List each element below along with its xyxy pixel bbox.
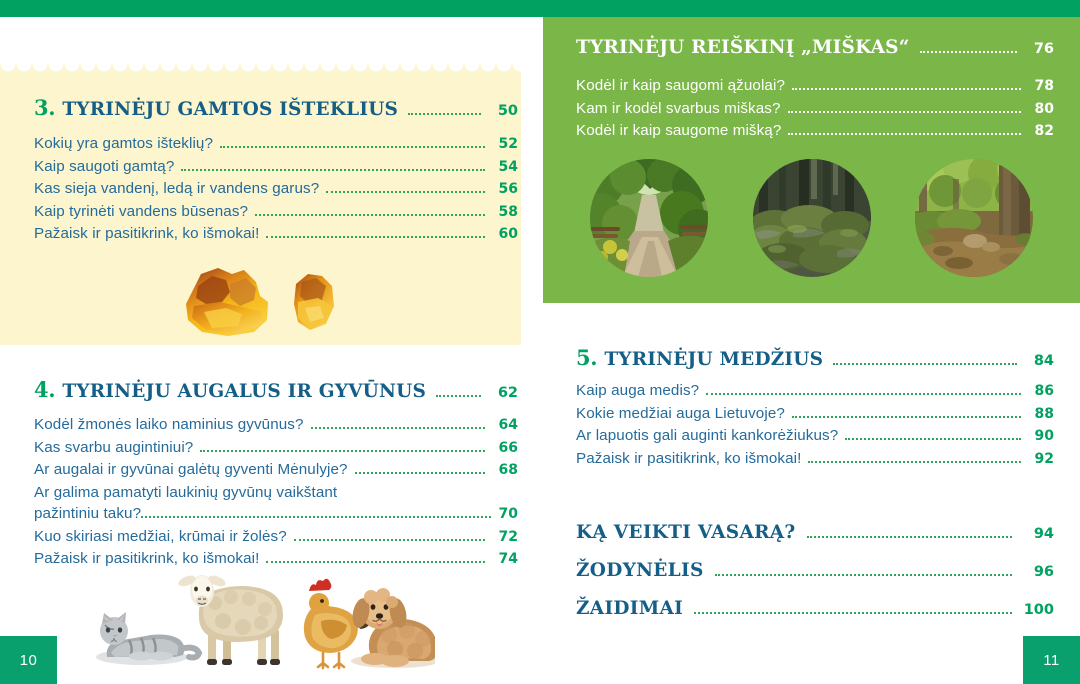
leader-dots [788,111,1021,113]
entry-label: Kaip saugoti gamtą? [34,156,174,178]
entry-label: Kas svarbu augintiniui? [34,437,193,459]
section-number: 3. [34,95,55,120]
cat-illustration [96,612,199,665]
entry-label: Kuo skiriasi medžiai, krūmai ir žolės? [34,526,287,548]
big-link-page-number: 96 [1022,564,1054,580]
section-title: TYRINĖJU AUGALUS IR GYVŪNUS [62,381,426,402]
amber-stones-image [168,262,358,340]
section-3-entries: Kokių yra gamtos išteklių? 52 Kaip saugo… [34,133,518,246]
leader-dots [706,393,1021,395]
leader-dots [792,88,1021,90]
toc-entry[interactable]: Kodėl ir kaip saugome mišką? 82 [576,120,1054,143]
leader-dots [920,51,1017,53]
toc-entry[interactable]: Kaip tyrinėti vandens būsenas? 58 [34,201,518,224]
toc-entry-wrapped-second-line[interactable]: pažintiniu taku? 70 [34,503,518,526]
forest-floor-photo [915,159,1033,277]
section-page-number: 62 [490,385,518,401]
page-number-left: 10 [0,636,57,684]
forest-photo-row [543,159,1080,281]
big-link-page-number: 100 [1022,602,1054,618]
leader-dots [833,363,1017,365]
leader-dots [694,612,1012,614]
big-link-label: ŽODYNĖLIS [576,560,704,581]
entry-label: Kodėl ir kaip saugome mišką? [576,120,781,142]
leader-dots [141,516,491,518]
big-link-row[interactable]: ŽAIDIMAI 100 [576,598,1054,619]
entry-label: Kam ir kodėl svarbus miškas? [576,98,781,120]
entry-label: Pažaisk ir pasitikrink, ko išmokai! [34,223,259,245]
section-heading-3[interactable]: 3. TYRINĖJU GAMTOS IŠTEKLIUS 50 [34,95,518,120]
toc-entry[interactable]: Pažaisk ir pasitikrink, ko išmokai! 60 [34,223,518,246]
leader-dots [355,472,485,474]
entry-page-number: 74 [492,549,518,571]
entry-label: Kas sieja vandenį, ledą ir vandens garus… [34,178,319,200]
entry-page-number: 60 [492,224,518,246]
table-of-contents-spread: 3. TYRINĖJU GAMTOS IŠTEKLIUS 50 Kokių yr… [0,0,1080,684]
green-section-entries: Kodėl ir kaip saugomi ąžuolai? 78 Kam ir… [576,75,1054,143]
entry-label: Kaip tyrinėti vandens būsenas? [34,201,248,223]
entry-page-number: 66 [492,438,518,460]
entry-label: Kokie medžiai auga Lietuvoje? [576,403,785,425]
entry-page-number: 56 [492,179,518,201]
green-section-heading[interactable]: TYRINĖJU REIŠKINĮ „MIŠKAS“ 76 [576,37,1054,58]
toc-entry[interactable]: Kuo skiriasi medžiai, krūmai ir žolės? 7… [34,526,518,549]
leader-dots [326,191,485,193]
entry-label: Pažaisk ir pasitikrink, ko išmokai! [34,548,259,570]
entry-page-number: 70 [492,504,518,526]
big-link-row[interactable]: KĄ VEIKTI VASARĄ? 94 [576,522,1054,543]
leader-dots [845,438,1021,440]
leader-dots [255,214,485,216]
section-heading-4[interactable]: 4. TYRINĖJU AUGALUS IR GYVŪNUS 62 [34,377,518,402]
leader-dots [436,395,481,397]
toc-entry[interactable]: Kam ir kodėl svarbus miškas? 80 [576,98,1054,121]
toc-entry[interactable]: Pažaisk ir pasitikrink, ko išmokai! 92 [576,448,1054,471]
toc-entry[interactable]: Kokie medžiai auga Lietuvoje? 88 [576,403,1054,426]
toc-entry[interactable]: Kokių yra gamtos išteklių? 52 [34,133,518,156]
section-5-entries: Kaip auga medis? 86 Kokie medžiai auga L… [576,380,1054,470]
folio-left-text: 10 [20,652,38,669]
big-link-label: ŽAIDIMAI [576,598,683,619]
leader-dots [266,236,485,238]
section-heading-5[interactable]: 5. TYRINĖJU MEDŽIUS 84 [576,345,1054,370]
toc-entry[interactable]: Pažaisk ir pasitikrink, ko išmokai! 74 [34,548,518,571]
leader-dots [808,461,1021,463]
leader-dots [181,169,485,171]
entry-page-number: 58 [492,202,518,224]
entry-page-number: 80 [1028,99,1054,121]
toc-entry[interactable]: Kodėl ir kaip saugomi ąžuolai? 78 [576,75,1054,98]
section-page-number: 50 [490,103,518,119]
toc-entry[interactable]: Ar lapuotis gali auginti kankorėžiukus? … [576,425,1054,448]
entry-page-number: 52 [492,134,518,156]
toc-entry[interactable]: Ar augalai ir gyvūnai galėtų gyventi Mėn… [34,459,518,482]
leader-dots [311,427,485,429]
forest-path-photo [590,159,708,277]
section-page-number: 84 [1026,353,1054,369]
big-link-row[interactable]: ŽODYNĖLIS 96 [576,560,1054,581]
entry-label: Ar galima pamatyti laukinių gyvūnų vaikš… [34,482,337,504]
section-page-number: 76 [1026,41,1054,57]
leader-dots [408,113,481,115]
mossy-rocks-photo [753,159,871,277]
entry-label: Kodėl ir kaip saugomi ąžuolai? [576,75,785,97]
leader-dots [715,574,1012,576]
big-link-label: KĄ VEIKTI VASARĄ? [576,522,796,543]
scalloped-edge [0,64,521,77]
page-number-right: 11 [1023,636,1080,684]
folio-right-text: 11 [1043,652,1060,669]
entry-page-number: 72 [492,527,518,549]
section-title: TYRINĖJU REIŠKINĮ „MIŠKAS“ [576,37,910,58]
entry-page-number: 68 [492,460,518,482]
section-title: TYRINĖJU MEDŽIUS [604,349,823,370]
entry-page-number: 54 [492,157,518,179]
leader-dots [792,416,1021,418]
entry-label: Ar augalai ir gyvūnai galėtų gyventi Mėn… [34,459,348,481]
section-title: TYRINĖJU GAMTOS IŠTEKLIUS [62,99,398,120]
big-link-page-number: 94 [1022,526,1054,542]
entry-label: Kodėl žmonės laiko naminius gyvūnus? [34,414,304,436]
big-links-group: KĄ VEIKTI VASARĄ? 94 ŽODYNĖLIS 96 ŽAIDIM… [576,522,1054,636]
top-teal-bar [0,0,1080,17]
section-4-entries: Kodėl žmonės laiko naminius gyvūnus? 64 … [34,414,518,571]
toc-entry[interactable]: Kaip saugoti gamtą? 54 [34,156,518,179]
toc-entry[interactable]: Kas svarbu augintiniui? 66 [34,437,518,460]
entry-page-number: 86 [1028,381,1054,403]
entry-page-number: 64 [492,415,518,437]
entry-page-number: 92 [1028,449,1054,471]
farm-animals-image [95,569,435,671]
left-page: 3. TYRINĖJU GAMTOS IŠTEKLIUS 50 Kokių yr… [0,17,543,684]
entry-page-number: 90 [1028,426,1054,448]
leader-dots [788,133,1021,135]
entry-label: Ar lapuotis gali auginti kankorėžiukus? [576,425,838,447]
toc-entry[interactable]: Kas sieja vandenį, ledą ir vandens garus… [34,178,518,201]
entry-page-number: 82 [1028,121,1054,143]
toc-entry[interactable]: Kaip auga medis? 86 [576,380,1054,403]
leader-dots [220,146,485,148]
entry-page-number: 88 [1028,404,1054,426]
toc-entry[interactable]: Kodėl žmonės laiko naminius gyvūnus? 64 [34,414,518,437]
toc-entry-wrapped-first-line[interactable]: Ar galima pamatyti laukinių gyvūnų vaikš… [34,482,518,504]
entry-label: Kaip auga medis? [576,380,699,402]
section-number: 5. [576,345,597,370]
leader-dots [266,561,485,563]
entry-page-number: 78 [1028,76,1054,98]
section-number: 4. [34,377,55,402]
leader-dots [294,539,485,541]
leader-dots [807,536,1012,538]
entry-label: pažintiniu taku? [34,503,141,525]
right-page: TYRINĖJU REIŠKINĮ „MIŠKAS“ 76 Kodėl ir k… [543,17,1080,684]
leader-dots [200,450,485,452]
entry-label: Pažaisk ir pasitikrink, ko išmokai! [576,448,801,470]
entry-label: Kokių yra gamtos išteklių? [34,133,213,155]
